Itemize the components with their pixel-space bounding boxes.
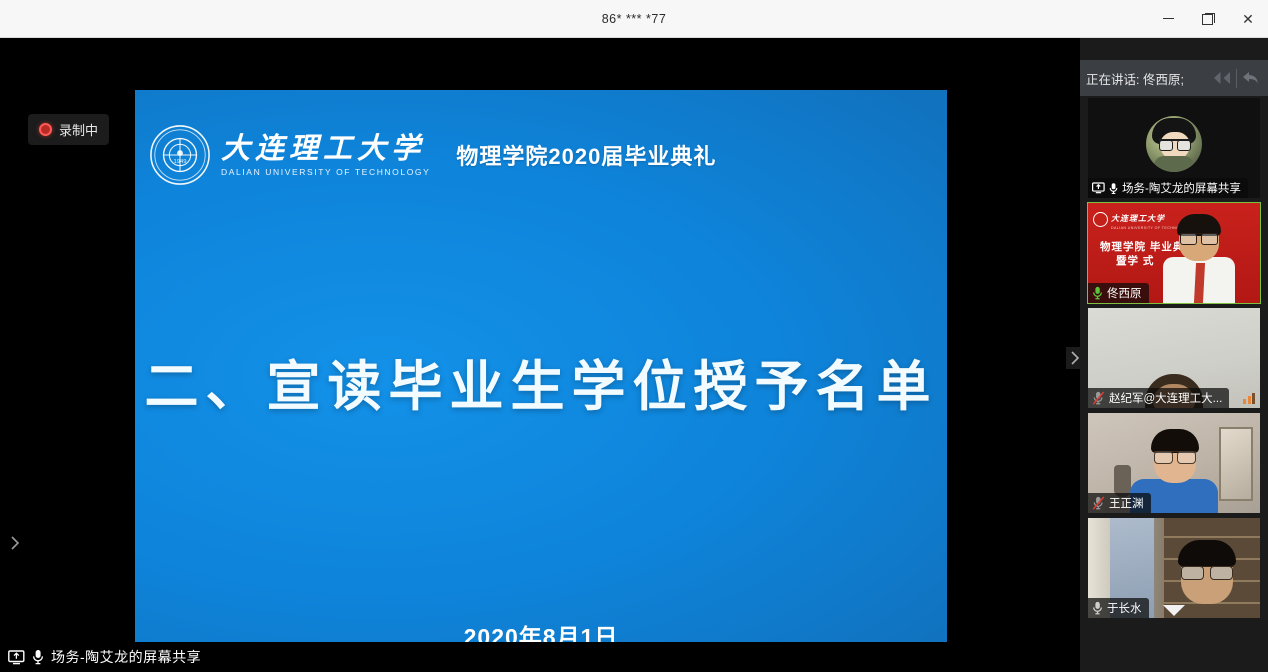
university-name-en: DALIAN UNIVERSITY OF TECHNOLOGY [221,167,430,177]
header-divider [1236,69,1237,88]
university-seal-icon [1093,212,1108,227]
thumbnail-tong-xiyuan[interactable]: 大连理工大学 DALIAN UNIVERSITY OF TECHNOLOGY 物… [1088,203,1260,303]
thumbnail-zhao-jijun[interactable]: 赵纪军@大连理工大... [1088,308,1260,408]
thumbnail-name: 于长水 [1107,600,1142,616]
svg-text:1949: 1949 [174,159,187,165]
university-logo-text: 大连理工大学 DALIAN UNIVERSITY OF TECHNOLOGY [221,133,430,177]
screen-share-icon [8,650,25,665]
shared-screen-stage: 录制中 1949 [0,38,1080,672]
recording-label: 录制中 [59,120,98,139]
active-speaker-label: 正在讲话: 佟西原; [1086,69,1211,88]
chevron-right-icon [1070,350,1080,366]
close-button[interactable]: ✕ [1228,0,1268,37]
university-seal-icon: 1949 [149,124,211,186]
triangle-down-icon[interactable] [1163,605,1185,616]
double-chevron-left-icon [1211,70,1233,86]
collapse-panel-button[interactable] [1211,64,1233,92]
backdrop-line-2: 暨学 式 [1116,253,1154,268]
window-title: 86* *** *77 [602,12,667,26]
participant-video-person [1167,217,1231,303]
screen-share-icon [1092,182,1105,194]
return-arrow-icon [1242,70,1260,86]
restore-button[interactable] [1188,0,1228,37]
thumbnail-name-badge: 场务-陶艾龙的屏幕共享 [1088,178,1248,198]
thumbnail-yu-changshui[interactable]: 于长水 [1088,518,1260,618]
university-logo: 1949 大连理工大学 DALIAN UNIVERSITY OF TECHNOL… [149,124,430,186]
thumbnail-name-badge: 佟西原 [1088,283,1149,303]
thumbnail-wang-zhengyuan[interactable]: 王正渊 [1088,413,1260,513]
signal-bars-icon [1243,393,1255,404]
microphone-active-icon [1092,286,1103,300]
participants-panel: 正在讲话: 佟西原; [1080,38,1268,672]
avatar [1146,116,1202,172]
recording-indicator[interactable]: 录制中 [28,114,109,145]
thumbnail-name-badge: 于长水 [1088,598,1149,618]
thumbnail-name-badge: 赵纪军@大连理工大... [1088,388,1229,408]
title-bar: 86* *** *77 ✕ [0,0,1268,38]
thumbnail-name-badge: 王正渊 [1088,493,1151,513]
screen-share-status-bar: 场务-陶艾龙的屏幕共享 [0,642,1080,672]
minimize-icon [1163,18,1174,19]
left-panel-expand-button[interactable] [6,532,24,554]
thumbnail-name: 赵纪军@大连理工大... [1109,390,1222,406]
backdrop-logo-cn: 大连理工大学 [1111,213,1165,223]
thumbnail-list[interactable]: 场务-陶艾龙的屏幕共享 大连理工大学 DALIAN UNIVERSITY OF … [1084,98,1264,623]
screen-share-label: 场务-陶艾龙的屏幕共享 [51,647,201,667]
window-controls: ✕ [1148,0,1268,37]
microphone-icon [32,649,44,665]
thumbnail-name: 场务-陶艾龙的屏幕共享 [1122,180,1241,196]
minimize-button[interactable] [1148,0,1188,37]
microphone-icon [1092,601,1103,615]
slide-header: 1949 大连理工大学 DALIAN UNIVERSITY OF TECHNOL… [135,124,947,186]
microphone-muted-icon [1092,496,1105,510]
close-icon: ✕ [1242,12,1254,26]
slide-main-title: 二、宣读毕业生学位授予名单 [135,342,947,421]
presentation-slide: 1949 大连理工大学 DALIAN UNIVERSITY OF TECHNOL… [135,90,947,672]
university-name-cn: 大连理工大学 [221,133,430,163]
microphone-muted-icon [1092,391,1105,405]
record-dot-icon [39,123,52,136]
thumbnail-screen-share[interactable]: 场务-陶艾龙的屏幕共享 [1088,98,1260,198]
thumbnail-name: 佟西原 [1107,285,1142,301]
microphone-icon [1109,182,1118,195]
meeting-window: 86* *** *77 ✕ 录制中 [0,0,1268,672]
return-button[interactable] [1240,64,1262,92]
panel-header: 正在讲话: 佟西原; [1080,60,1268,96]
thumbnail-name: 王正渊 [1109,495,1144,511]
restore-icon [1202,13,1214,25]
chevron-right-icon [10,535,20,551]
slide-header-title: 物理学院2020届毕业典礼 [456,139,716,171]
